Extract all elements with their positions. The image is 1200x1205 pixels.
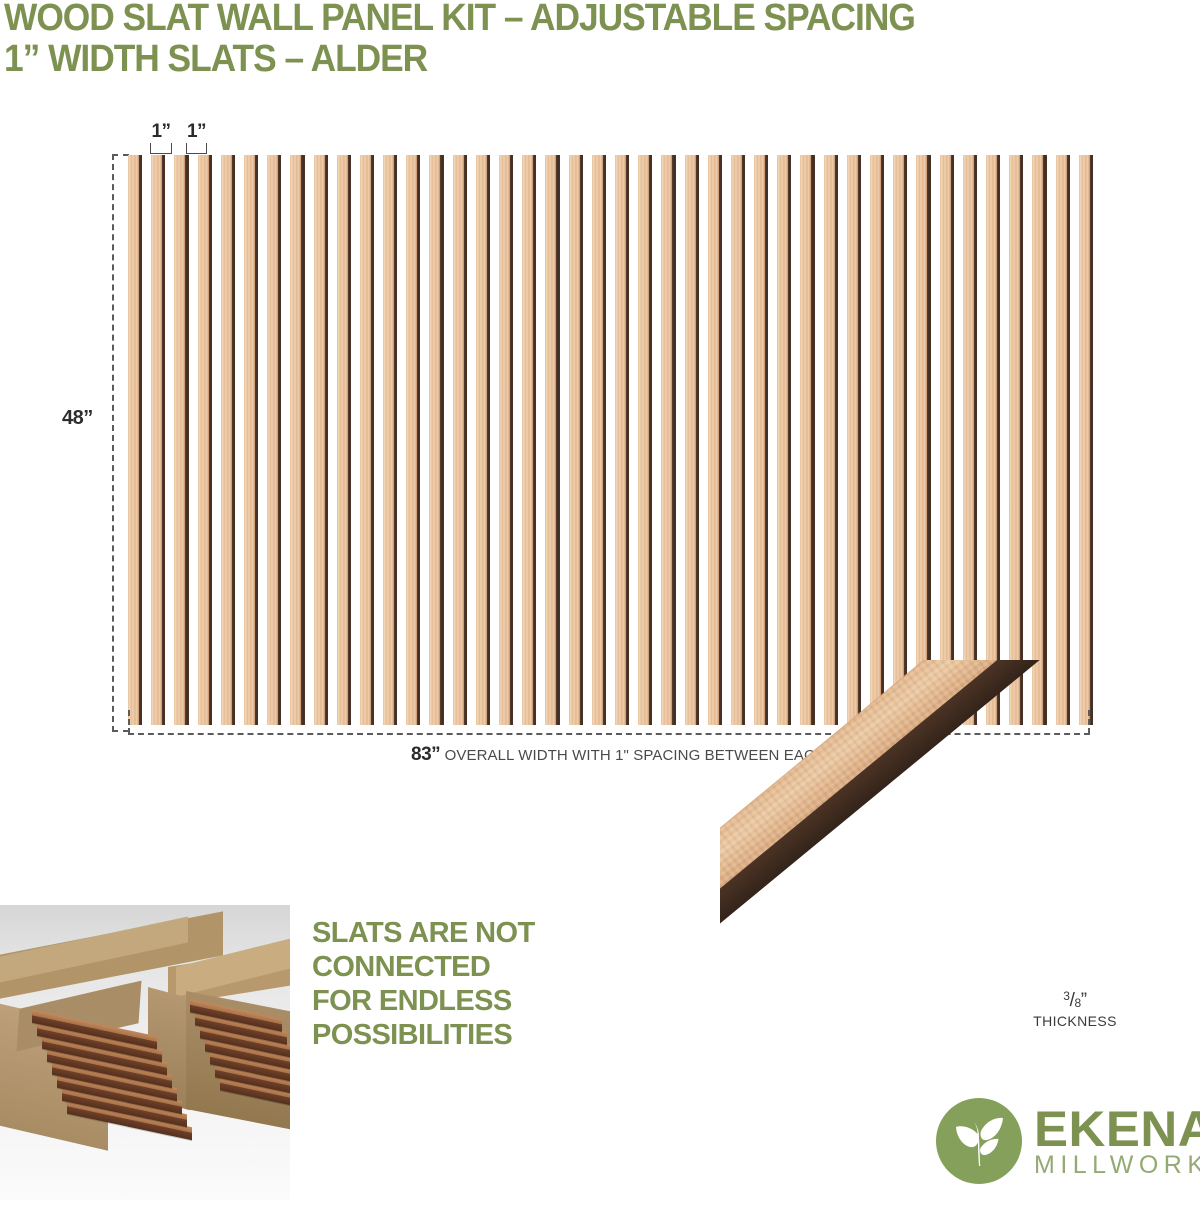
spacing-callout-gap: 1” (150, 122, 172, 154)
slat (290, 155, 301, 725)
slat (267, 155, 278, 725)
slat (314, 155, 325, 725)
brand-logo: EKENA MILLWORK (936, 1098, 1200, 1184)
slat (847, 155, 858, 725)
slat (221, 155, 232, 725)
spacing-callout-slat-label: 1” (186, 122, 207, 141)
slat (592, 155, 603, 725)
marketing-line-3: FOR ENDLESS (312, 984, 535, 1018)
slat (499, 155, 510, 725)
spacing-callout-slat-bracket (186, 143, 207, 154)
slat (870, 155, 881, 725)
slat (406, 155, 417, 725)
marketing-line-1: SLATS ARE NOT (312, 916, 535, 950)
slat (569, 155, 580, 725)
height-label: 48” (62, 407, 93, 430)
slat (453, 155, 464, 725)
slat (986, 155, 997, 725)
slat (383, 155, 394, 725)
packaging-photo (0, 905, 290, 1200)
height-dimension-line (112, 154, 114, 732)
slat (893, 155, 904, 725)
slat (638, 155, 649, 725)
thickness-label: 3/8” THICKNESS (1020, 986, 1130, 1030)
slat (337, 155, 348, 725)
slat (244, 155, 255, 725)
thickness-unit: ” (1081, 990, 1087, 1011)
page-title: WOOD SLAT WALL PANEL KIT – ADJUSTABLE SP… (4, 0, 1200, 80)
leaf-icon (936, 1098, 1022, 1184)
width-dimension-cap-right (1088, 710, 1090, 734)
slat (1079, 155, 1090, 725)
thickness-fraction: 3/8” (1020, 986, 1130, 1013)
slat (429, 155, 440, 725)
slat (128, 155, 139, 725)
height-dimension-cap-top (112, 154, 129, 156)
width-label-text: OVERALL WIDTH WITH 1" SPACING BETWEEN EA… (445, 747, 867, 764)
slat (708, 155, 719, 725)
thickness-caption: THICKNESS (1020, 1013, 1130, 1030)
thickness-numerator: 3 (1063, 989, 1069, 1003)
slat (916, 155, 927, 725)
slat-panel-diagram: 48” 1” 1” 83” OVERALL WIDTH WITH 1" SPAC… (0, 110, 1140, 780)
logo-wordmark: EKENA MILLWORK (1034, 1104, 1200, 1179)
slat (1032, 155, 1043, 725)
height-dimension-cap-bottom (112, 730, 129, 732)
spacing-callout-slat: 1” (186, 122, 207, 154)
logo-brand: EKENA (1034, 1106, 1200, 1152)
slat-row (128, 155, 1090, 725)
slat (1056, 155, 1067, 725)
marketing-line-4: POSSIBILITIES (312, 1018, 535, 1052)
width-label-value: 83” (411, 744, 440, 765)
slat (545, 155, 556, 725)
slat (174, 155, 185, 725)
slat (476, 155, 487, 725)
slat (731, 155, 742, 725)
slat (198, 155, 209, 725)
width-dimension-line (128, 733, 1090, 735)
width-dimension-cap-left (128, 710, 130, 734)
spacing-callout-gap-label: 1” (150, 122, 172, 141)
slat (777, 155, 788, 725)
title-line-2: 1” WIDTH SLATS – ALDER (4, 39, 1116, 80)
spacing-callout-gap-bracket (150, 143, 172, 154)
slat (800, 155, 811, 725)
slat (963, 155, 974, 725)
marketing-text: SLATS ARE NOT CONNECTED FOR ENDLESS POSS… (312, 916, 535, 1052)
slat (615, 155, 626, 725)
slat (685, 155, 696, 725)
slat (360, 155, 371, 725)
slat (151, 155, 162, 725)
title-line-1: WOOD SLAT WALL PANEL KIT – ADJUSTABLE SP… (4, 0, 1116, 39)
slat (522, 155, 533, 725)
marketing-line-2: CONNECTED (312, 950, 535, 984)
slat (940, 155, 951, 725)
slat (1009, 155, 1020, 725)
slat (661, 155, 672, 725)
slat (754, 155, 765, 725)
width-label: 83” OVERALL WIDTH WITH 1" SPACING BETWEE… (411, 744, 867, 766)
slat (824, 155, 835, 725)
